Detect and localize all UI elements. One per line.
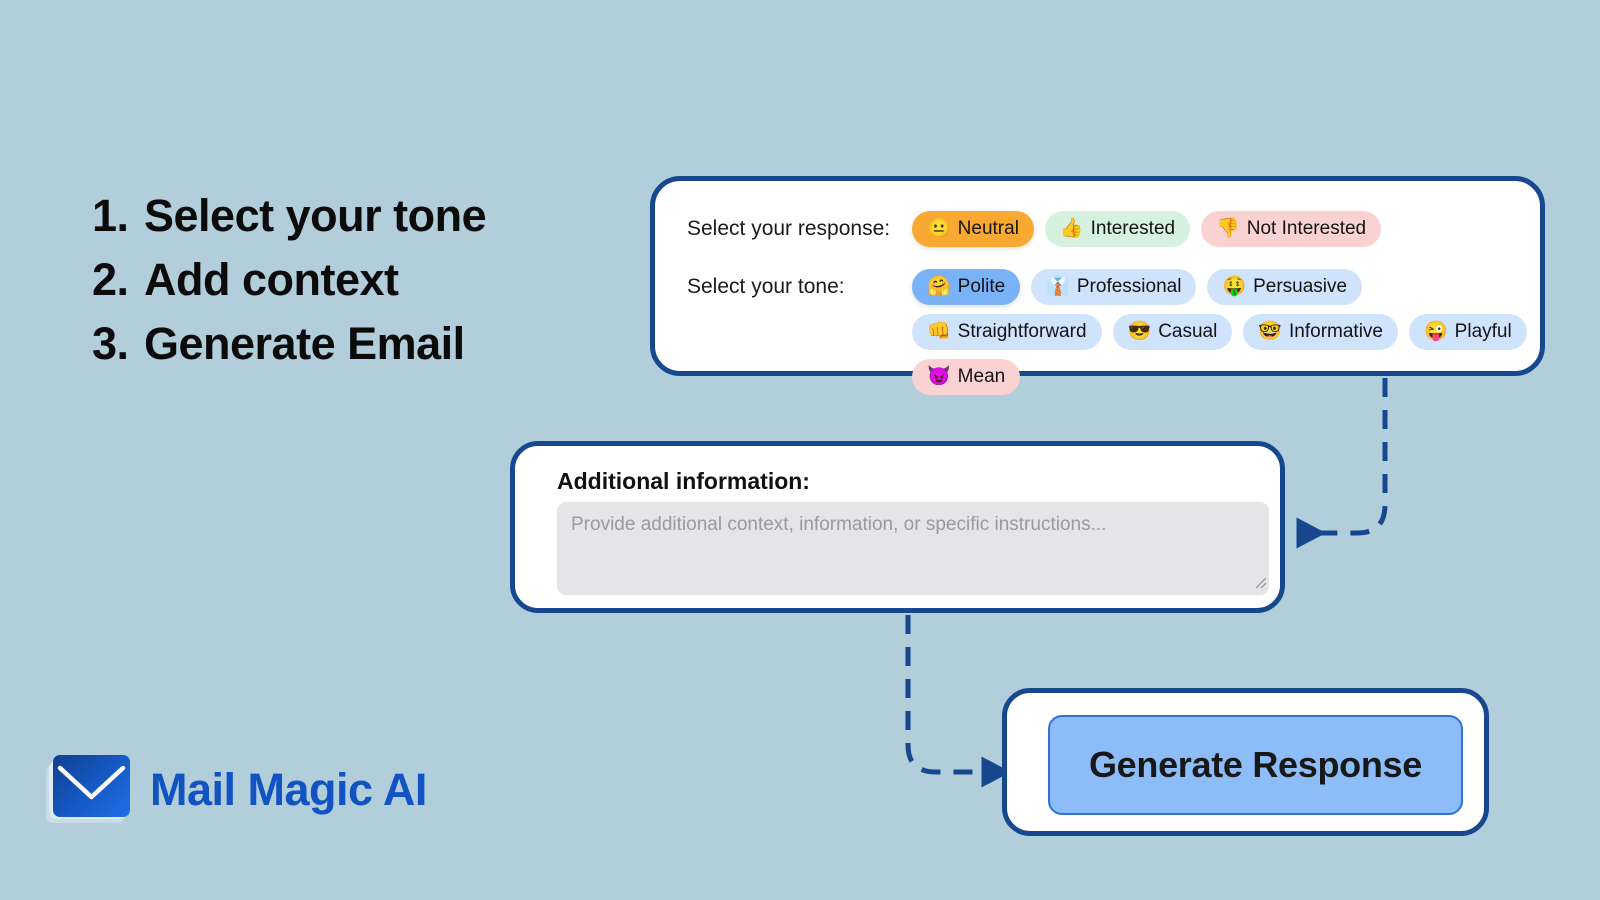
steps-list: 1. Select your tone 2. Add context 3. Ge… [92, 184, 486, 376]
generate-panel: Generate Response [1002, 688, 1489, 836]
step-label: Select your tone [144, 184, 486, 248]
step-label: Generate Email [144, 312, 465, 376]
envelope-flap-icon [53, 755, 130, 817]
response-chip-neutral[interactable]: 😐Neutral [912, 211, 1034, 247]
response-selector-row: Select your response: 😐Neutral👍Intereste… [687, 211, 1381, 247]
poster-canvas: 1. Select your tone 2. Add context 3. Ge… [0, 0, 1600, 900]
response-chip-group: 😐Neutral👍Interested👎Not Interested [912, 211, 1381, 247]
selector-panel: Select your response: 😐Neutral👍Intereste… [650, 176, 1545, 376]
envelope-icon [46, 755, 130, 825]
chip-label: Informative [1289, 321, 1383, 343]
tone-chip-informative[interactable]: 🤓Informative [1243, 314, 1398, 350]
tone-chip-straightforward[interactable]: 👊Straightforward [912, 314, 1102, 350]
tone-chip-casual[interactable]: 😎Casual [1113, 314, 1233, 350]
chip-label: Straightforward [958, 321, 1087, 343]
tone-chip-persuasive[interactable]: 🤑Persuasive [1207, 269, 1362, 305]
chip-label: Casual [1158, 321, 1217, 343]
sunglasses-face-emoji: 😎 [1128, 322, 1152, 341]
chip-label: Neutral [958, 218, 1019, 240]
neutral-face-emoji: 😐 [927, 219, 951, 238]
chip-label: Interested [1091, 218, 1176, 240]
textarea-resize-handle-icon[interactable] [1252, 574, 1268, 590]
chip-label: Polite [958, 276, 1006, 298]
chip-label: Mean [958, 366, 1006, 388]
additional-information-input[interactable] [557, 502, 1269, 595]
fist-emoji: 👊 [927, 322, 951, 341]
step-item: 1. Select your tone [92, 184, 486, 248]
nerd-face-emoji: 🤓 [1258, 322, 1282, 341]
additional-information-title: Additional information: [557, 468, 810, 495]
brand-name: Mail Magic AI [150, 764, 427, 816]
chip-label: Professional [1077, 276, 1182, 298]
step-number: 1. [92, 184, 144, 248]
tone-label: Select your tone: [687, 269, 912, 299]
additional-information-panel: Additional information: [510, 441, 1285, 613]
response-label: Select your response: [687, 217, 912, 241]
tone-chip-mean[interactable]: 😈Mean [912, 359, 1020, 395]
response-chip-interested[interactable]: 👍Interested [1045, 211, 1190, 247]
tone-to-context-arrow [1303, 378, 1385, 533]
step-number: 2. [92, 248, 144, 312]
winking-tongue-emoji: 😜 [1424, 322, 1448, 341]
devil-face-emoji: 😈 [927, 367, 951, 386]
chip-label: Persuasive [1253, 276, 1347, 298]
step-item: 3. Generate Email [92, 312, 486, 376]
brand-lockup: Mail Magic AI [46, 755, 427, 825]
money-face-emoji: 🤑 [1222, 277, 1246, 296]
tone-chip-polite[interactable]: 🤗Polite [912, 269, 1020, 305]
step-label: Add context [144, 248, 399, 312]
hugging-face-emoji: 🤗 [927, 277, 951, 296]
step-item: 2. Add context [92, 248, 486, 312]
step-number: 3. [92, 312, 144, 376]
thumbs-up-emoji: 👍 [1060, 219, 1084, 238]
tone-chip-professional[interactable]: 👔Professional [1031, 269, 1196, 305]
chip-label: Not Interested [1247, 218, 1366, 240]
context-to-generate-arrow [908, 615, 988, 772]
necktie-emoji: 👔 [1046, 277, 1070, 296]
tone-chip-group: 🤗Polite👔Professional🤑Persuasive👊Straight… [912, 269, 1527, 395]
chip-label: Playful [1455, 321, 1512, 343]
generate-response-button[interactable]: Generate Response [1048, 715, 1463, 815]
tone-selector-row: Select your tone: 🤗Polite👔Professional🤑P… [687, 269, 1527, 395]
response-chip-not-interested[interactable]: 👎Not Interested [1201, 211, 1381, 247]
tone-chip-playful[interactable]: 😜Playful [1409, 314, 1527, 350]
thumbs-down-emoji: 👎 [1216, 219, 1240, 238]
